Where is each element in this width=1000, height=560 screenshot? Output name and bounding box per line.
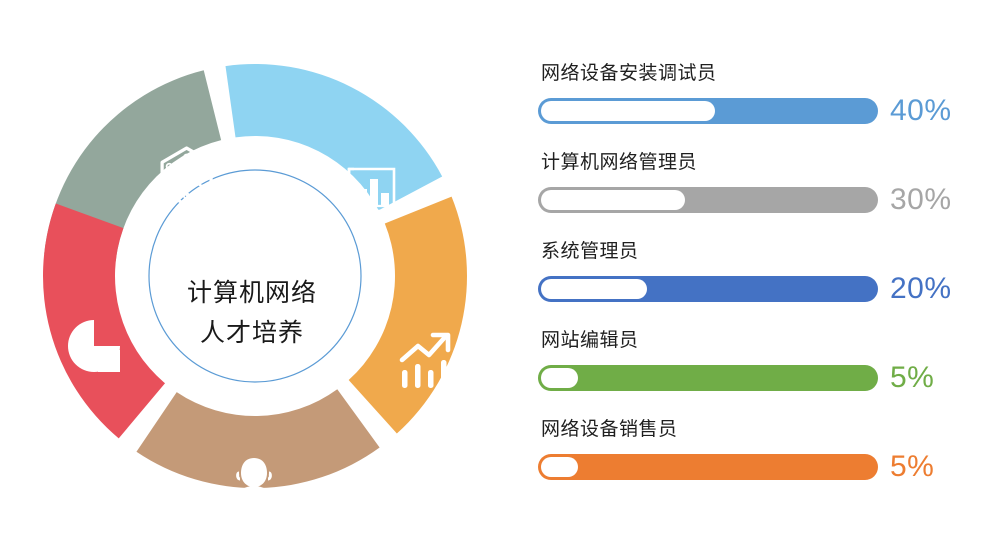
- donut-infographic: 计算机网络 人才培养: [20, 18, 490, 538]
- progress-label: 网络设备安装调试员: [541, 62, 978, 86]
- progress-line: 20%: [538, 274, 978, 304]
- progress-track[interactable]: [538, 98, 878, 124]
- progress-percent: 30%: [890, 185, 952, 215]
- progress-line: 5%: [538, 363, 978, 393]
- progress-knob[interactable]: [541, 457, 578, 477]
- progress-knob[interactable]: [541, 101, 715, 121]
- progress-track[interactable]: [538, 276, 878, 302]
- progress-knob[interactable]: [541, 279, 647, 299]
- share-segment[interactable]: [43, 203, 165, 438]
- progress-row: 网络设备销售员5%: [538, 418, 978, 507]
- progress-row: 系统管理员20%: [538, 240, 978, 329]
- progress-label: 网站编辑员: [541, 329, 978, 353]
- progress-line: 5%: [538, 452, 978, 482]
- progress-percent: 5%: [890, 452, 934, 482]
- progress-track[interactable]: [538, 454, 878, 480]
- progress-label: 网络设备销售员: [541, 418, 978, 442]
- progress-percent: 5%: [890, 363, 934, 393]
- progress-percent: 40%: [890, 96, 952, 126]
- progress-row: 计算机网络管理员30%: [538, 151, 978, 240]
- progress-label: 计算机网络管理员: [541, 151, 978, 175]
- progress-bar-list: 网络设备安装调试员40%计算机网络管理员30%系统管理员20%网站编辑员5%网络…: [538, 62, 978, 507]
- progress-row: 网络设备安装调试员40%: [538, 62, 978, 151]
- infographic-canvas: 计算机网络 人才培养 网络设备安装调试员40%计算机网络管理员30%系统管理员2…: [0, 0, 1000, 560]
- donut-chart-svg: [20, 18, 490, 538]
- progress-knob[interactable]: [541, 368, 578, 388]
- progress-knob[interactable]: [541, 190, 685, 210]
- progress-line: 30%: [538, 185, 978, 215]
- progress-track[interactable]: [538, 365, 878, 391]
- progress-percent: 20%: [890, 274, 952, 304]
- growth-segment[interactable]: [349, 197, 467, 434]
- progress-line: 40%: [538, 96, 978, 126]
- progress-row: 网站编辑员5%: [538, 329, 978, 418]
- progress-track[interactable]: [538, 187, 878, 213]
- progress-label: 系统管理员: [541, 240, 978, 264]
